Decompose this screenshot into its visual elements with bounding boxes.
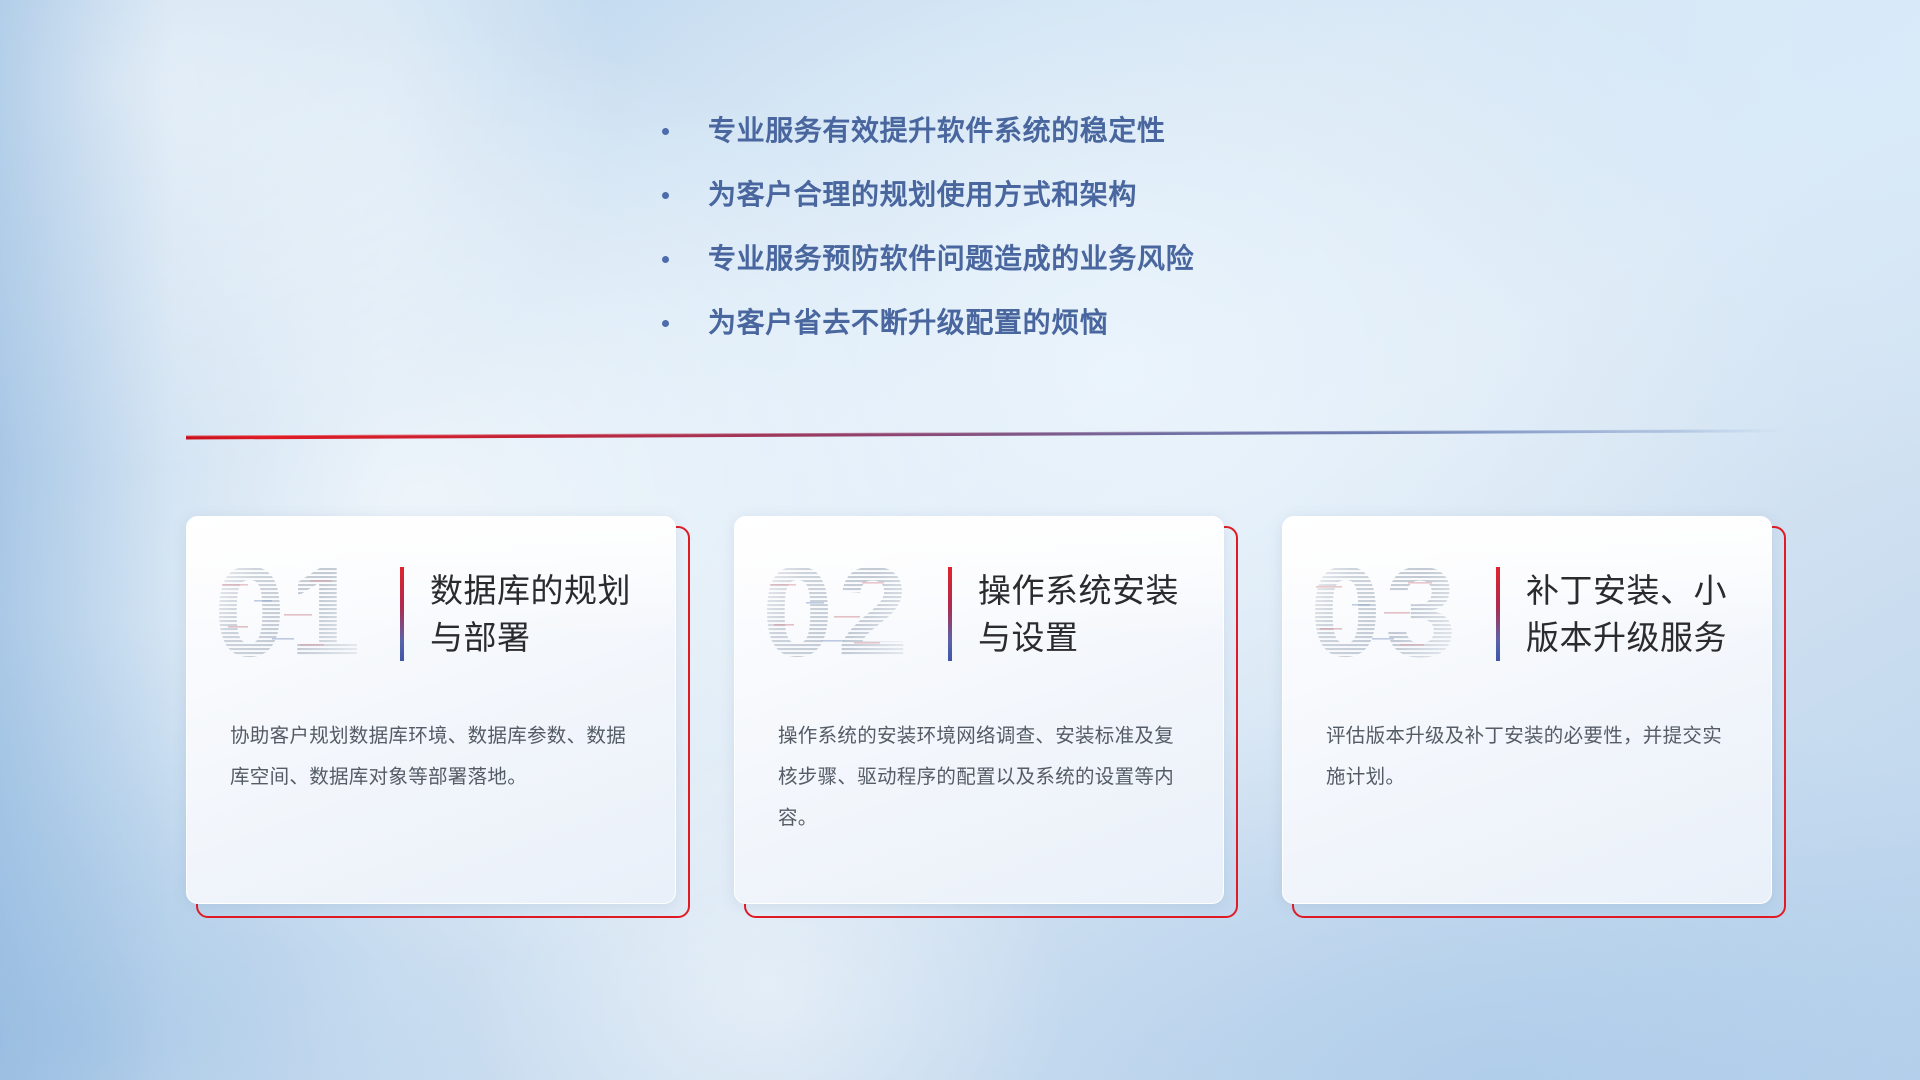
card-accent-bar [400, 567, 404, 661]
card-description: 操作系统的安装环境网络调查、安装标准及复核步骤、驱动程序的配置以及系统的设置等内… [778, 716, 1182, 839]
card-header: 02 操作系统安装 与设置 [734, 544, 1224, 684]
card-surface: 01 数据库的规划 与部署 [186, 516, 676, 904]
service-card[interactable]: 01 数据库的规划 与部署 [186, 516, 676, 904]
card-title: 数据库的规划 与部署 [430, 567, 676, 661]
bullet-dot-icon [662, 192, 669, 199]
card-surface: 02 操作系统安装 与设置 [734, 516, 1224, 904]
ghost-number-03-icon: 03 [1310, 552, 1492, 676]
bullet-text: 专业服务预防软件问题造成的业务风险 [708, 236, 1194, 282]
bullet-text: 为客户省去不断升级配置的烦恼 [708, 300, 1108, 346]
bullet-dot-icon [662, 256, 669, 263]
card-description: 评估版本升级及补丁安装的必要性，并提交实施计划。 [1326, 716, 1730, 798]
bullet-text: 专业服务有效提升软件系统的稳定性 [708, 108, 1166, 154]
bullet-text: 为客户合理的规划使用方式和架构 [708, 172, 1137, 218]
benefits-bullet-list: 专业服务有效提升软件系统的稳定性 为客户合理的规划使用方式和架构 专业服务预防软… [662, 108, 1662, 364]
list-item: 为客户省去不断升级配置的烦恼 [662, 300, 1662, 364]
service-card-group: 01 数据库的规划 与部署 [0, 516, 1920, 936]
ghost-number-01-icon: 01 [214, 552, 396, 676]
card-title: 操作系统安装 与设置 [978, 567, 1224, 661]
svg-text:03: 03 [1310, 552, 1460, 676]
card-accent-bar [948, 567, 952, 661]
ghost-number-02-icon: 02 [762, 552, 944, 676]
list-item: 专业服务预防软件问题造成的业务风险 [662, 236, 1662, 300]
list-item: 为客户合理的规划使用方式和架构 [662, 172, 1662, 236]
card-title: 补丁安装、小 版本升级服务 [1526, 567, 1772, 661]
service-card[interactable]: 03 补丁安装、小 版本升级服务 [1282, 516, 1772, 904]
bullet-dot-icon [662, 128, 669, 135]
card-accent-bar [1496, 567, 1500, 661]
tapered-rule-divider [186, 424, 1786, 440]
card-description: 协助客户规划数据库环境、数据库参数、数据库空间、数据库对象等部署落地。 [230, 716, 634, 798]
card-header: 03 补丁安装、小 版本升级服务 [1282, 544, 1772, 684]
bullet-dot-icon [662, 320, 669, 327]
list-item: 专业服务有效提升软件系统的稳定性 [662, 108, 1662, 172]
card-header: 01 数据库的规划 与部署 [186, 544, 676, 684]
card-surface: 03 补丁安装、小 版本升级服务 [1282, 516, 1772, 904]
service-card[interactable]: 02 操作系统安装 与设置 [734, 516, 1224, 904]
svg-text:02: 02 [762, 552, 912, 676]
